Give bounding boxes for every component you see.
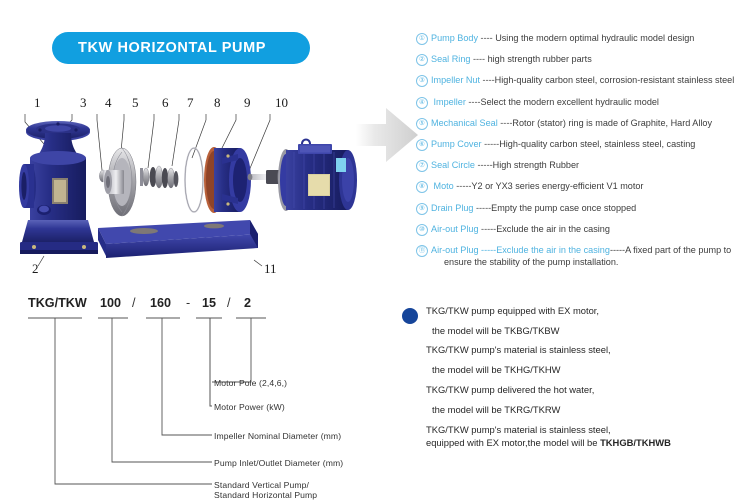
part-name: Air-out Plug: [431, 224, 479, 234]
callout-number: 7: [187, 96, 194, 109]
callout-number: 1: [34, 96, 41, 109]
part-list-item: ⑨ Drain Plug -----Empty the pump case on…: [416, 203, 756, 224]
part-description: Y2 or YX3 series energy-efficient V1 mot…: [471, 181, 643, 191]
callout-number: 6: [162, 96, 169, 109]
note-line-last: equipped with EX motor,the model will be…: [426, 437, 671, 449]
callout-number: 11: [264, 262, 277, 275]
part-description: Exclude the air in the casing: [496, 245, 610, 255]
part-list-item: ⑩ Air-out Plug -----Exclude the air in t…: [416, 224, 756, 245]
parts-description-list: ① Pump Body ---- Using the modern optima…: [416, 33, 756, 268]
part-name: Pump Body: [431, 33, 478, 43]
callout-number: 2: [32, 262, 39, 275]
part-name: Impeller: [431, 97, 466, 107]
exploded-pump-diagram: 1 3 4 5 6 7 8 9 10 2 11: [14, 100, 374, 280]
circled-number-icon: ⑦: [416, 160, 428, 172]
title-banner: TKW HORIZONTAL PUMP: [52, 32, 310, 64]
part-dash: -----: [479, 245, 497, 255]
model-code-hyphen: -: [186, 296, 190, 310]
callout-number: 3: [80, 96, 87, 109]
part-name: Mechanical Seal: [431, 118, 498, 128]
part-description: High-quality carbon steel, stainless ste…: [499, 139, 695, 149]
part-dash: -----: [482, 139, 500, 149]
note-line: the model will be TKRG/TKRW: [432, 404, 560, 416]
part-dash: -----: [473, 203, 491, 213]
note-line: TKG/TKW pump delivered the hot water,: [426, 384, 594, 396]
model-code-power: 15: [202, 296, 216, 310]
part-list-item: ② Seal Ring ---- high strength rubber pa…: [416, 54, 756, 75]
part-name: Seal Ring: [431, 54, 470, 64]
note-line: the model will be TKBG/TKBW: [432, 325, 559, 337]
part-list-item: ⑦ Seal Circle -----High strength Rubber: [416, 160, 756, 181]
part-list-item: ③ Impeller Nut ----High-quality carbon s…: [416, 75, 756, 96]
part-name: Drain Plug: [431, 203, 473, 213]
part-name: Pump Cover: [431, 139, 482, 149]
part-dash: ----: [498, 118, 513, 128]
right-pointing-arrow: [356, 104, 420, 166]
model-code-impeller: 160: [150, 296, 171, 310]
part-list-item: ⑧ Moto -----Y2 or YX3 series energy-effi…: [416, 181, 756, 202]
note-line: TKG/TKW pump's material is stainless ste…: [426, 344, 611, 356]
model-label-inlet-outlet-dia: Pump Inlet/Outlet Diameter (mm): [214, 458, 343, 469]
model-code-inlet: 100: [100, 296, 121, 310]
pump-assembly-svg: [14, 100, 374, 280]
callout-number: 10: [275, 96, 288, 109]
part-name: Impeller Nut: [431, 75, 480, 85]
circled-number-icon: ②: [416, 54, 428, 66]
callout-number: 8: [214, 96, 221, 109]
part-description-tail: -----A fixed part of the pump to: [610, 245, 731, 255]
part-description: high strength rubber parts: [488, 54, 592, 64]
note-line: TKG/TKW pump's material is stainless ste…: [426, 424, 611, 436]
circled-number-icon: ④: [416, 97, 428, 109]
model-code-slash-2: /: [227, 296, 231, 310]
part-list-item: ① Pump Body ---- Using the modern optima…: [416, 33, 756, 54]
circled-number-icon: ③: [416, 75, 428, 87]
part-dash: -----: [479, 224, 497, 234]
circled-number-icon: ⑧: [416, 181, 428, 193]
part-description: Empty the pump case once stopped: [491, 203, 636, 213]
model-code-prefix: TKG/TKW: [28, 296, 87, 310]
circled-number-icon: ⑨: [416, 203, 428, 215]
part-description: Rotor (stator) ring is made of Graphite,…: [512, 118, 712, 128]
circled-number-icon: ⑥: [416, 139, 428, 151]
model-label-pump-type-line2: Standard Horizontal Pump: [214, 490, 317, 501]
page-root: TKW HORIZONTAL PUMP: [0, 0, 756, 500]
model-code-slash-1: /: [132, 296, 136, 310]
part-dash: -----: [454, 181, 472, 191]
circled-number-icon: ①: [416, 33, 428, 45]
part-description: High strength Rubber: [493, 160, 579, 170]
model-label-motor-pole: Motor Pole (2,4,6,): [214, 378, 287, 389]
circled-number-icon: ⑤: [416, 118, 428, 130]
note-line: TKG/TKW pump equipped with EX motor,: [426, 305, 599, 317]
model-code-pole: 2: [244, 296, 251, 310]
callout-number: 9: [244, 96, 251, 109]
callout-number: 4: [105, 96, 112, 109]
part-dash: -----: [475, 160, 493, 170]
note-last-prefix: equipped with EX motor,the model will be: [426, 437, 600, 448]
part-list-item: ⑥ Pump Cover -----High-quality carbon st…: [416, 139, 756, 160]
note-line: the model will be TKHG/TKHW: [432, 364, 561, 376]
part-dash: ----: [466, 97, 481, 107]
part-list-item: ⑤ Mechanical Seal ----Rotor (stator) rin…: [416, 118, 756, 139]
part-description-wrap: ensure the stability of the pump install…: [431, 256, 731, 268]
model-designation-diagram: TKG/TKW 100 / 160 - 15 / 2: [14, 296, 389, 496]
part-name: Seal Circle: [431, 160, 475, 170]
part-description: Exclude the air in the casing: [496, 224, 610, 234]
callout-number: 5: [132, 96, 139, 109]
part-description: High-quality carbon steel, corrosion-res…: [495, 75, 735, 85]
part-description: Using the modern optimal hydraulic model…: [495, 33, 694, 43]
part-description: Select the modern excellent hydraulic mo…: [481, 97, 659, 107]
part-list-item: ⑪ Air-out Plug -----Exclude the air in t…: [416, 245, 756, 268]
part-dash: ----: [470, 54, 487, 64]
circled-number-icon: ⑪: [416, 245, 428, 257]
part-name: Air-out Plug: [431, 245, 479, 255]
part-dash: ----: [478, 33, 495, 43]
part-list-item: ④ Impeller ----Select the modern excelle…: [416, 97, 756, 118]
note-last-model: TKHGB/TKHWB: [600, 437, 671, 448]
model-label-motor-power: Motor Power (kW): [214, 402, 285, 413]
part-name: Moto: [431, 181, 454, 191]
bullet-dot-icon: [402, 308, 418, 324]
title-banner-label: TKW HORIZONTAL PUMP: [52, 40, 266, 56]
model-label-impeller-dia: Impeller Nominal Diameter (mm): [214, 431, 341, 442]
part-dash: ----: [480, 75, 495, 85]
circled-number-icon: ⑩: [416, 224, 428, 236]
